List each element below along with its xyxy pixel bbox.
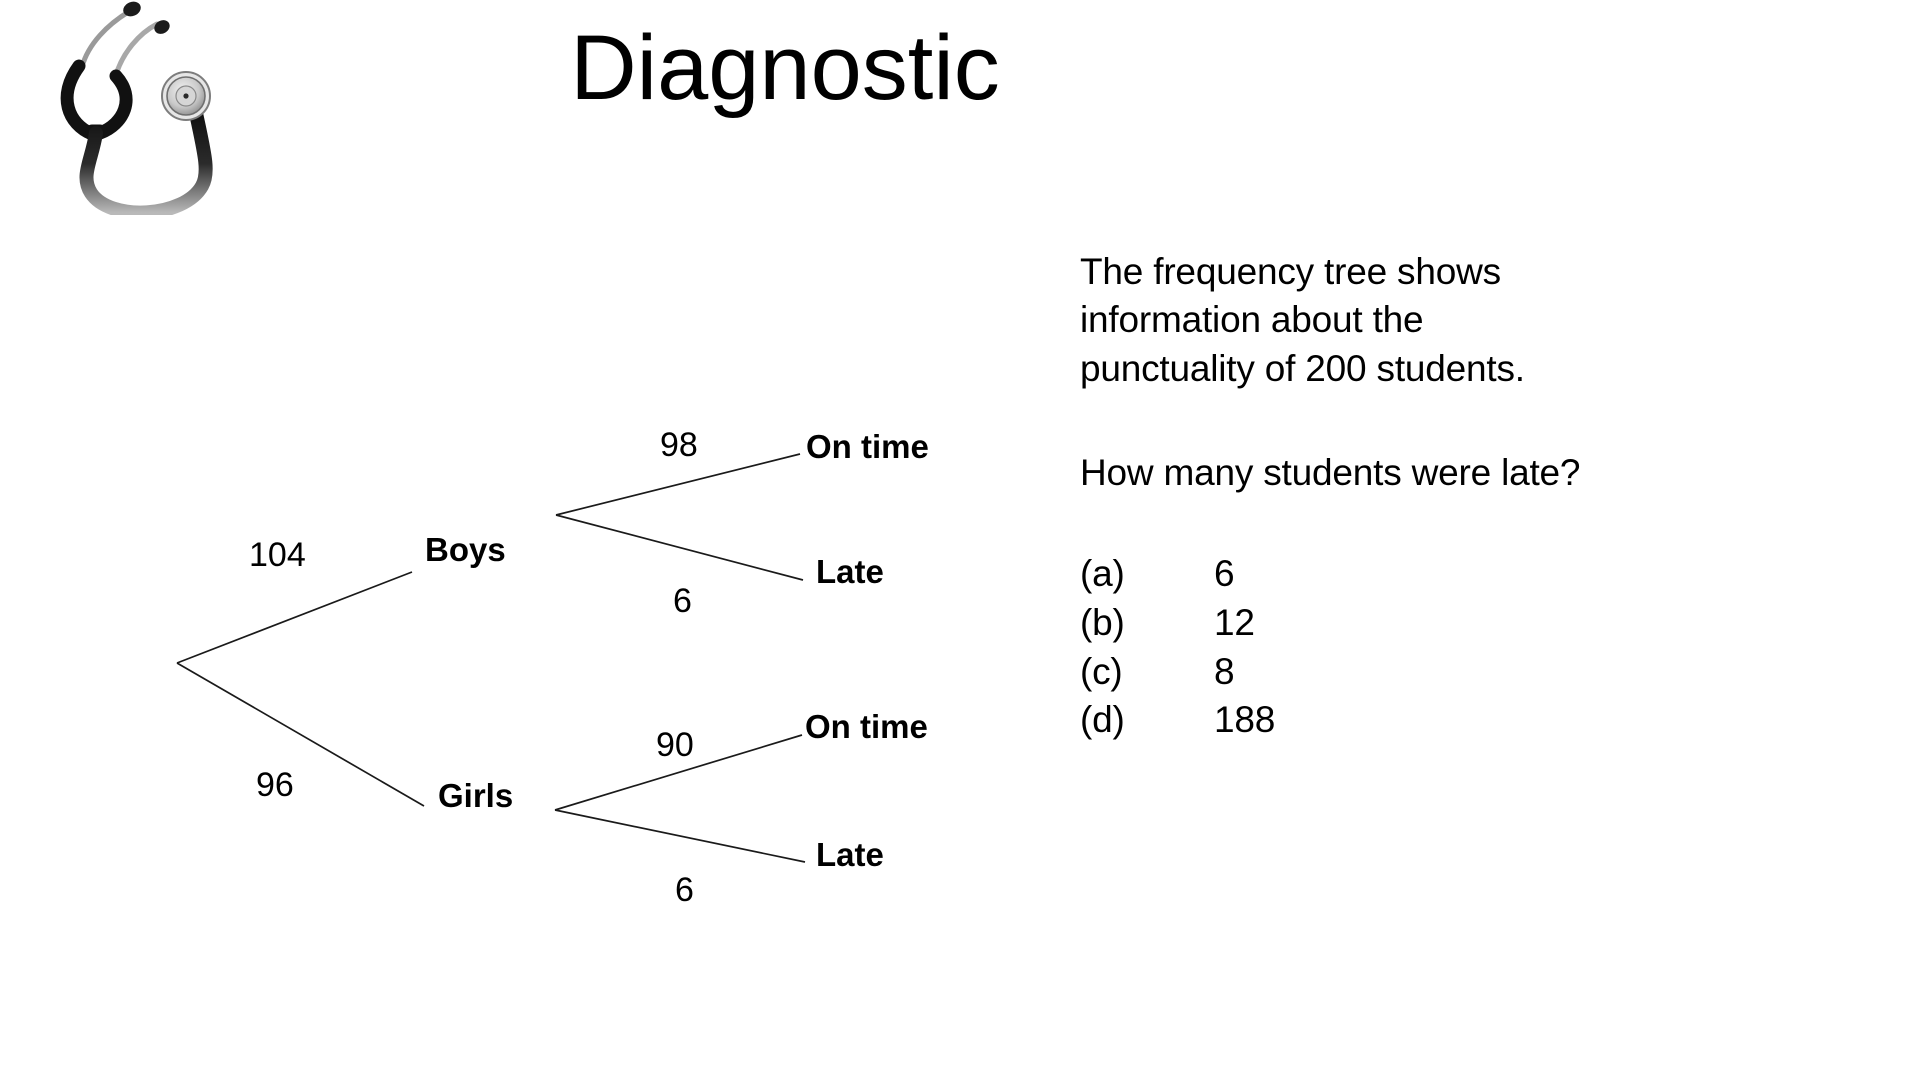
edge-boys-late xyxy=(556,515,803,580)
answer-option-a-value: 6 xyxy=(1214,550,1234,599)
edge-label-girls-count: 96 xyxy=(256,768,294,802)
edge-label-girls-late: 6 xyxy=(675,873,694,907)
edge-label-girls-ontime: 90 xyxy=(656,728,694,762)
edge-label-boys-late: 6 xyxy=(673,584,692,618)
tree-leaf-boys-ontime: On time xyxy=(806,430,929,463)
tree-leaf-girls-late: Late xyxy=(816,838,884,871)
edge-girls-late xyxy=(555,810,805,862)
slide-canvas: Diagnostic 104 96 Boys Girls xyxy=(0,0,1920,1080)
tree-node-girls: Girls xyxy=(438,779,513,812)
edge-label-boys-count: 104 xyxy=(249,538,306,572)
tree-leaf-girls-ontime: On time xyxy=(805,710,928,743)
question-panel: The frequency tree shows information abo… xyxy=(1080,248,1840,745)
frequency-tree-diagram: 104 96 Boys Girls 98 6 90 6 On time Late… xyxy=(0,0,980,1000)
answer-option-b-key: (b) xyxy=(1080,599,1214,648)
answer-option-d-key: (d) xyxy=(1080,696,1214,745)
answer-option-b-value: 12 xyxy=(1214,599,1255,648)
answer-option-d-value: 188 xyxy=(1214,696,1275,745)
prompt-line-3: punctuality of 200 students. xyxy=(1080,345,1840,393)
edge-root-girls xyxy=(177,663,424,806)
answer-options-list: (a) 6 (b) 12 (c) 8 (d) 188 xyxy=(1080,550,1840,745)
edge-root-boys xyxy=(177,572,412,663)
answer-option-c[interactable]: (c) 8 xyxy=(1080,648,1840,697)
prompt-line-2: information about the xyxy=(1080,296,1840,344)
question-text: How many students were late? xyxy=(1080,449,1840,497)
edge-label-boys-ontime: 98 xyxy=(660,428,698,462)
answer-option-d[interactable]: (d) 188 xyxy=(1080,696,1840,745)
answer-option-a-key: (a) xyxy=(1080,550,1214,599)
answer-option-a[interactable]: (a) 6 xyxy=(1080,550,1840,599)
prompt-line-1: The frequency tree shows xyxy=(1080,248,1840,296)
tree-leaf-boys-late: Late xyxy=(816,555,884,588)
tree-node-boys: Boys xyxy=(425,533,506,566)
answer-option-b[interactable]: (b) 12 xyxy=(1080,599,1840,648)
answer-option-c-value: 8 xyxy=(1214,648,1234,697)
answer-option-c-key: (c) xyxy=(1080,648,1214,697)
